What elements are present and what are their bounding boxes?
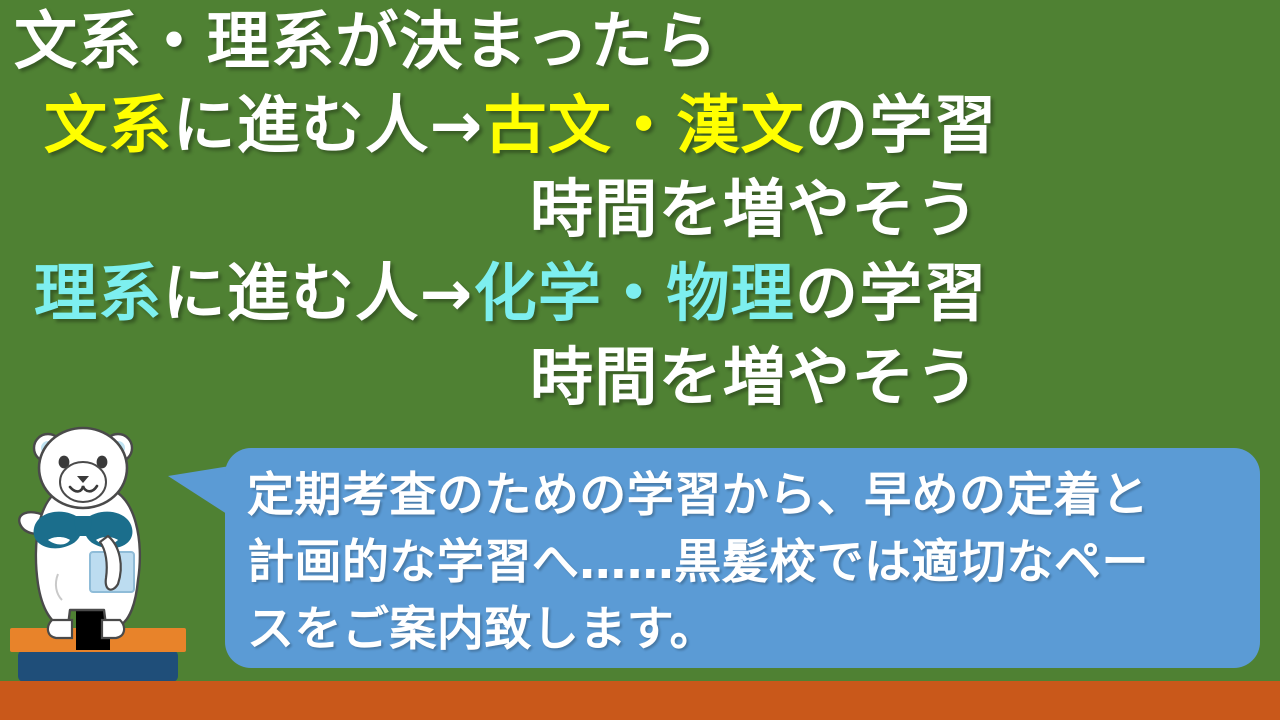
speech-bubble: 定期考査のための学習から、早めの定着と 計画的な学習へ……黒髪校では適切なペー …: [225, 448, 1260, 668]
bear-mascot: [8, 424, 198, 682]
headline-line-4-highlight-kagaku-butsuri: 化学・物理: [474, 257, 795, 330]
headline-line-1: 文系・理系が決まったら: [0, 0, 1280, 84]
platform-base: [18, 650, 178, 682]
bubble-line-2: 計画的な学習へ……黒髪校では適切なペー: [247, 529, 1242, 596]
bubble-line-3: スをご案内致します。: [247, 596, 1242, 663]
headline-line-4-middle: に進む人: [163, 257, 420, 330]
bubble-line-1: 定期考査のための学習から、早めの定着と: [247, 462, 1242, 529]
headline-line-3-text: 時間を増やそう: [530, 173, 980, 246]
headline-line-5: 時間を増やそう: [0, 336, 1280, 420]
bear-foot-left: [48, 620, 72, 638]
bear-foot-right: [102, 620, 124, 638]
headline-line-4-highlight-rikei: 理系: [34, 257, 163, 330]
headline-line-2-highlight-kobun-kanbun: 古文・漢文: [484, 89, 805, 162]
arrow-icon: →: [420, 257, 474, 330]
headline-line-4: 理系に進む人→化学・物理の学習: [0, 252, 1280, 336]
headline-line-5-text: 時間を増やそう: [530, 341, 980, 414]
headline-line-2-highlight-bunkei: 文系: [44, 89, 173, 162]
slide-canvas: 文系・理系が決まったら 文系に進む人→古文・漢文の学習 時間を増やそう 理系に進…: [0, 0, 1280, 720]
bear-scarf-knot: [74, 516, 92, 536]
headline-line-2-tail: の学習: [805, 89, 998, 162]
bottom-accent-band: [0, 681, 1280, 720]
headline-line-2: 文系に進む人→古文・漢文の学習: [0, 84, 1280, 168]
headline-line-2-middle: に進む人: [173, 89, 430, 162]
headline-line-1-text: 文系・理系が決まったら: [14, 5, 718, 78]
headline-line-3: 時間を増やそう: [0, 168, 1280, 252]
arrow-icon: →: [430, 89, 484, 162]
headline-line-4-tail: の学習: [795, 257, 988, 330]
headline-block: 文系・理系が決まったら 文系に進む人→古文・漢文の学習 時間を増やそう 理系に進…: [0, 0, 1280, 420]
